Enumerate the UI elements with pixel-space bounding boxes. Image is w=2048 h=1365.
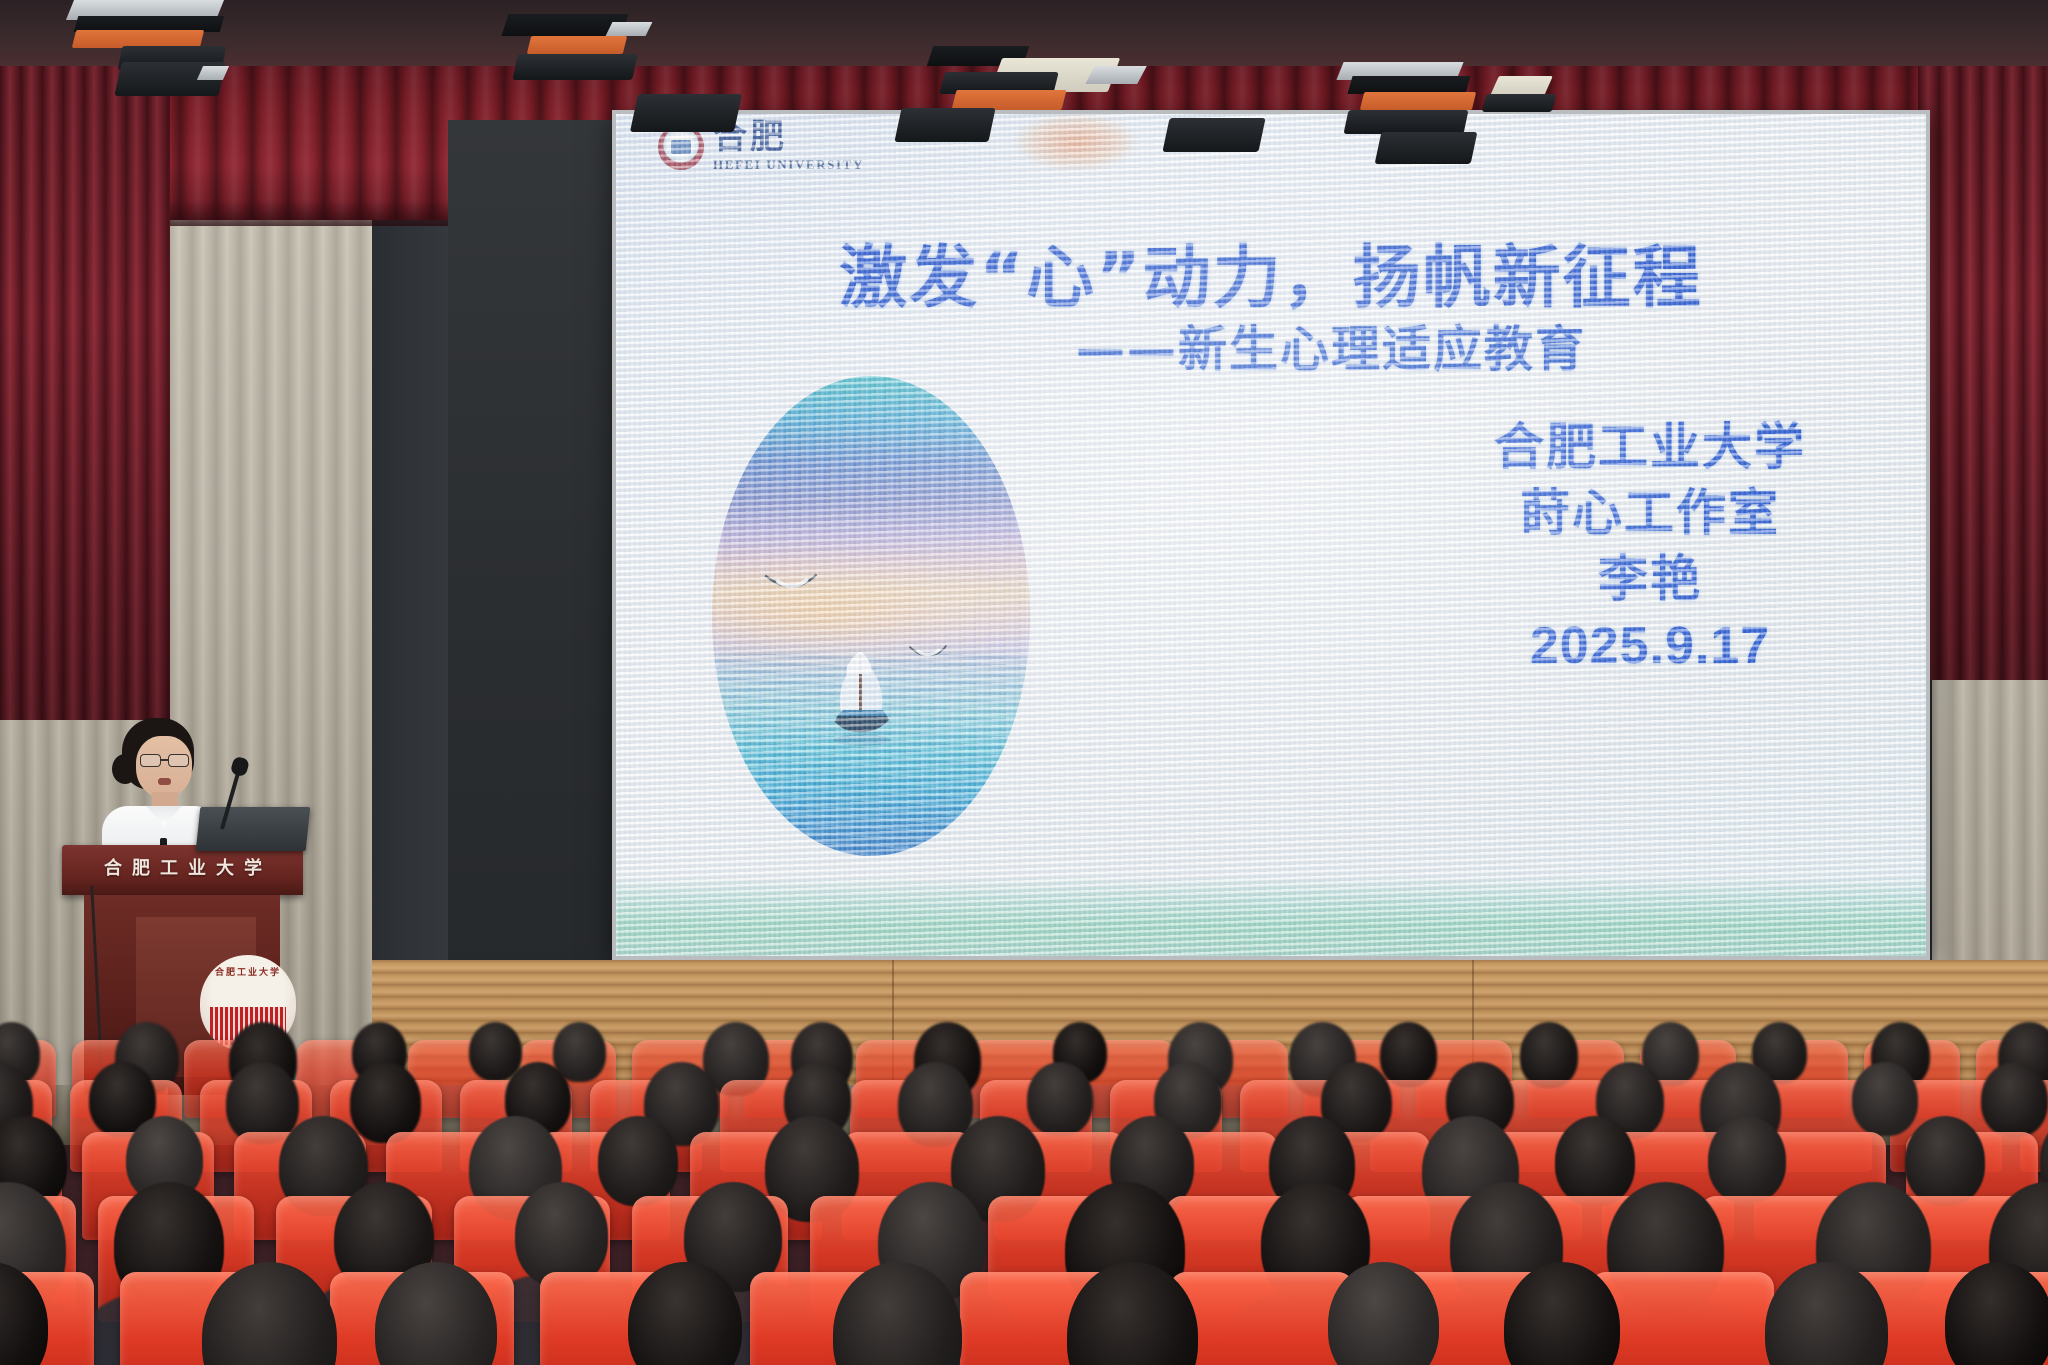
slide-date: 2025.9.17 (1494, 612, 1806, 681)
audience-head (1520, 1022, 1578, 1088)
audience-head (1981, 1062, 2048, 1137)
audience-head (1027, 1062, 1093, 1136)
slide-title: 激发“心”动力，扬帆新征程 (616, 222, 1926, 321)
glasses-icon (140, 754, 192, 767)
audience-head (1852, 1062, 1918, 1136)
audience-head (1708, 1116, 1785, 1203)
laptop-icon (196, 807, 311, 851)
side-display-panel (448, 120, 638, 980)
emblem-label: 合肥工业大学 (200, 965, 296, 978)
presenter-face (136, 736, 192, 798)
audience-head (1380, 1022, 1438, 1087)
audience-head (515, 1182, 608, 1287)
slide-info-line: 李艳 (1494, 546, 1806, 612)
lectern-top: 合肥工业大学 (62, 845, 303, 895)
audience-head (1555, 1116, 1635, 1206)
seagull-icon (908, 644, 948, 662)
slide-info-line: 合肥工业大学 (1494, 414, 1806, 480)
sailboat-icon (813, 640, 909, 763)
slide-subtitle: ——新生心理适应教育 (616, 310, 1926, 381)
seagull-icon (764, 572, 818, 596)
oval-seascape (712, 376, 1030, 856)
slide-info-block: 合肥工业大学 莳心工作室 李艳 2025.9.17 (1494, 414, 1806, 681)
slide-grass-band (616, 876, 1926, 956)
slide-info-line: 莳心工作室 (1494, 480, 1806, 546)
audience-head (350, 1062, 422, 1143)
lectern-name-plate: 合肥工业大学 (104, 854, 272, 880)
presentation-slide: 合肥 HEFEI UNIVERSITY 激发“心”动力，扬帆新征程 ——新生心理… (616, 114, 1926, 956)
audience-head (1905, 1116, 1985, 1206)
auditorium-scene: 合肥 HEFEI UNIVERSITY 激发“心”动力，扬帆新征程 ——新生心理… (0, 0, 2048, 1365)
ceiling-lighting-rig (0, 0, 2048, 230)
presenter-mouth (158, 778, 171, 785)
slide-oval-image (712, 376, 1030, 856)
audience-head (598, 1116, 678, 1206)
projection-screen-frame: 合肥 HEFEI UNIVERSITY 激发“心”动力，扬帆新征程 ——新生心理… (612, 110, 1930, 960)
